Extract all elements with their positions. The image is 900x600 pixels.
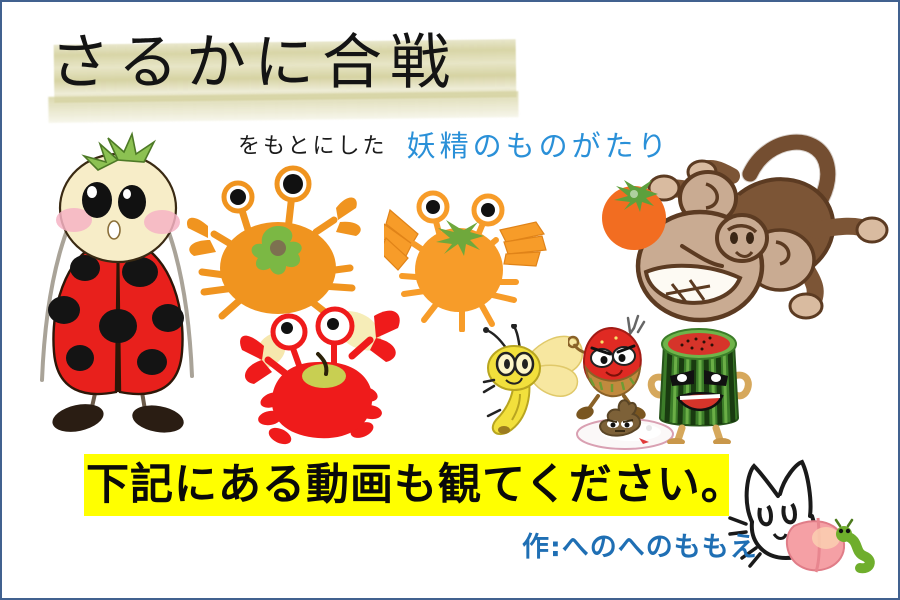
page-title: さるかに合戦	[50, 33, 458, 93]
cat-with-peach-and-caterpillar	[728, 444, 898, 594]
monkey-with-persimmon	[590, 114, 890, 324]
subtitle-black-part: をもとにした	[238, 134, 388, 159]
cta-text: 下記にある動画も観てください。	[86, 457, 728, 513]
red-apple-crab	[234, 302, 424, 452]
author-signature: 作:へのへのももえ	[522, 525, 758, 564]
watermelon-mortar-character	[646, 314, 756, 444]
slide-canvas: さるかに合戦 をもとにした 妖精のものがたり	[0, 0, 900, 600]
